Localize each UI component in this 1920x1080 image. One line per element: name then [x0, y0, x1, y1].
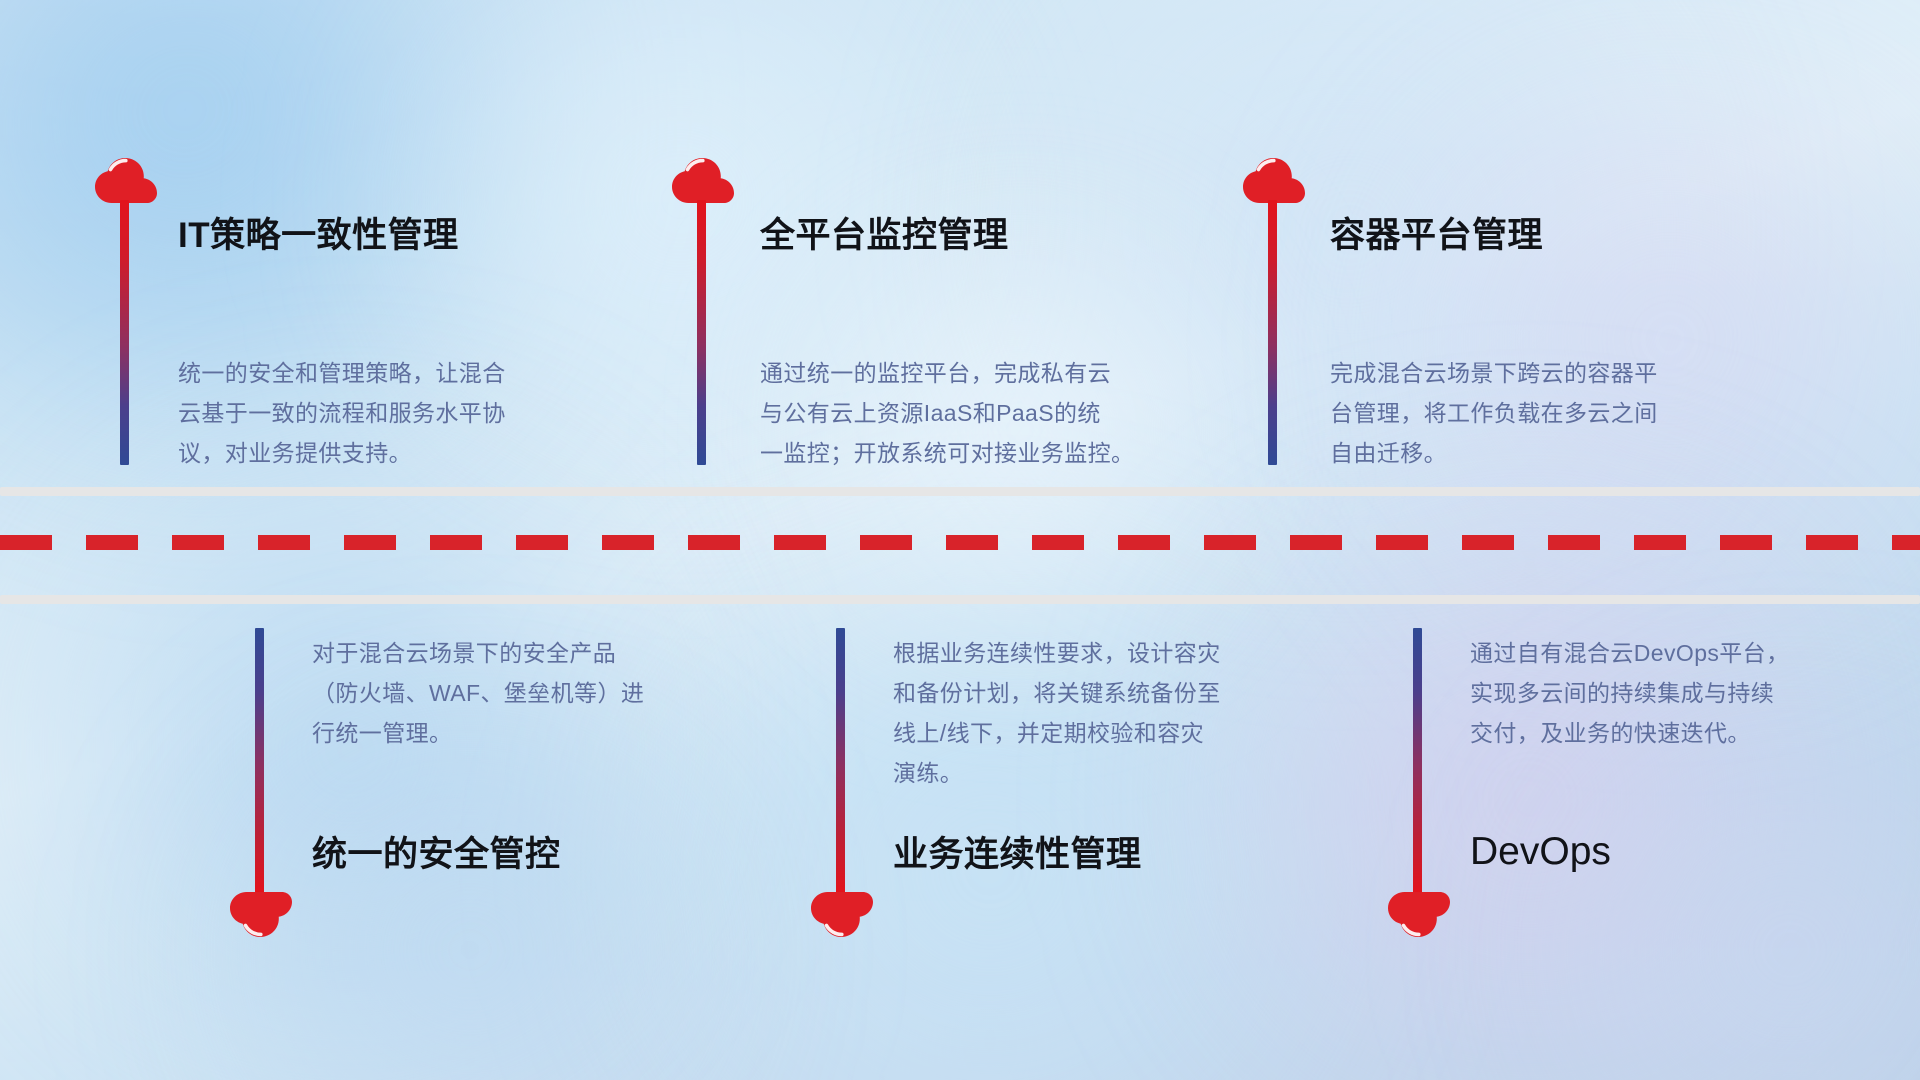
timeline-divider [0, 487, 1920, 604]
connector-stem [120, 200, 129, 465]
connector-stem [836, 628, 845, 893]
cloud-icon [230, 891, 292, 937]
milestone-description: 完成混合云场景下跨云的容器平 台管理，将工作负载在多云之间 自由迁移。 [1330, 353, 1760, 473]
milestone-title: 容器平台管理 [1330, 218, 1543, 253]
connector-stem [1268, 200, 1277, 465]
cloud-icon [811, 891, 873, 937]
milestone-description: 通过自有混合云DevOps平台， 实现多云间的持续集成与持续 交付，及业务的快速… [1470, 633, 1900, 753]
milestone-description: 统一的安全和管理策略，让混合 云基于一致的流程和服务水平协 议，对业务提供支持。 [178, 353, 608, 473]
milestone-description: 根据业务连续性要求，设计容灾 和备份计划，将关键系统备份至 线上/线下，并定期校… [893, 633, 1323, 793]
connector-stem [255, 628, 264, 893]
milestone-title: 统一的安全管控 [312, 837, 561, 872]
cloud-icon [1388, 891, 1450, 937]
top-rule [0, 487, 1920, 496]
cloud-icon [95, 158, 157, 204]
milestone-title: IT策略一致性管理 [178, 218, 459, 253]
milestone-description: 对于混合云场景下的安全产品 （防火墙、WAF、堡垒机等）进 行统一管理。 [312, 633, 742, 753]
infographic-canvas: IT策略一致性管理 统一的安全和管理策略，让混合 云基于一致的流程和服务水平协 … [0, 0, 1920, 1080]
milestone-title: 全平台监控管理 [760, 218, 1009, 253]
milestone-description: 通过统一的监控平台，完成私有云 与公有云上资源IaaS和PaaS的统 一监控；开… [760, 353, 1190, 473]
bottom-rule [0, 595, 1920, 604]
red-dashed-timeline [0, 535, 1920, 550]
cloud-icon [672, 158, 734, 204]
connector-stem [697, 200, 706, 465]
connector-stem [1413, 628, 1422, 893]
milestone-title: 业务连续性管理 [893, 837, 1142, 872]
cloud-icon [1243, 158, 1305, 204]
milestone-title: DevOps [1470, 832, 1611, 871]
